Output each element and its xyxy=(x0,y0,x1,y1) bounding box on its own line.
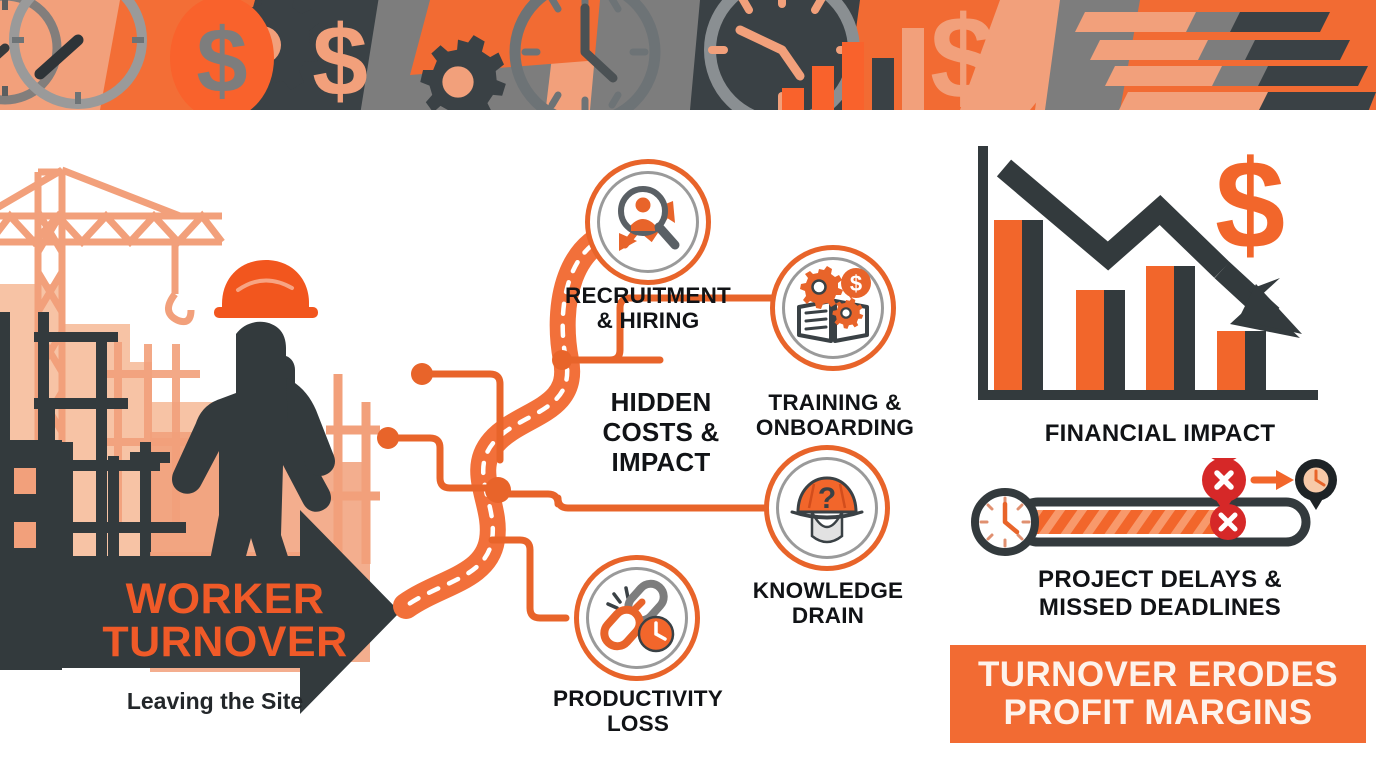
svg-text:?: ? xyxy=(818,482,836,515)
hub-label-line2: COSTS & xyxy=(563,417,759,447)
broken-chain-clock-icon xyxy=(594,578,680,658)
financial-impact-caption: FINANCIAL IMPACT xyxy=(960,420,1360,448)
banner-line1: TURNOVER ERODES xyxy=(978,656,1338,695)
svg-text:$: $ xyxy=(312,5,368,110)
svg-text:$: $ xyxy=(850,271,862,296)
delay-progress-graphic xyxy=(960,458,1360,568)
dollar-sign-icon: $ xyxy=(170,0,274,110)
orange-bar-2 xyxy=(1076,290,1104,390)
productivity-loss-label-line2: LOSS xyxy=(528,711,748,736)
infographic-canvas: $ $ xyxy=(0,0,1376,768)
progress-fill xyxy=(1026,510,1230,534)
header-pattern-band: $ $ xyxy=(0,0,1376,110)
financial-impact-chart: $ xyxy=(960,138,1360,428)
node-productivity-loss-label: PRODUCTIVITY LOSS xyxy=(528,686,748,736)
turnover-title-line1: WORKER xyxy=(60,578,390,621)
connector-terminal-dot xyxy=(411,363,433,385)
node-recruitment-label: RECRUITMENT & HIRING xyxy=(540,283,756,333)
connector-junction-dot xyxy=(552,350,572,370)
turnover-erodes-banner: TURNOVER ERODES PROFIT MARGINS xyxy=(950,645,1366,743)
worker-turnover-title: WORKER TURNOVER xyxy=(60,578,390,664)
book-gears-dollar-icon: $ xyxy=(789,265,877,351)
orange-bar-1 xyxy=(994,220,1022,390)
hub-label-hidden-costs: HIDDEN COSTS & IMPACT xyxy=(563,387,759,477)
hardhat-question-icon: ? xyxy=(784,468,870,548)
banner-line2: PROFIT MARGINS xyxy=(1004,694,1313,733)
orange-bar-4 xyxy=(1217,331,1245,390)
dollar-sign-icon: $ xyxy=(1215,138,1285,275)
delay-caption-line2: MISSED DEADLINES xyxy=(960,594,1360,622)
magnifier-person-growth-icon xyxy=(605,179,691,265)
clock-pin-icon xyxy=(1295,459,1337,510)
node-training-circle[interactable]: $ xyxy=(770,245,896,371)
dollar-sign-icon: $ xyxy=(930,0,996,110)
chart-x-axis xyxy=(978,390,1318,400)
node-inner-ring: $ xyxy=(782,257,884,359)
chart-y-axis xyxy=(978,146,988,398)
productivity-loss-label-line1: PRODUCTIVITY xyxy=(528,686,748,711)
recruitment-label-line1: RECRUITMENT xyxy=(540,283,756,308)
delay-caption-line1: PROJECT DELAYS & xyxy=(960,566,1360,594)
node-recruitment-circle[interactable] xyxy=(585,159,711,285)
red-x-marker-icon xyxy=(1210,504,1246,540)
dollar-bubble-icon: $ xyxy=(841,268,871,299)
clock-icon xyxy=(975,492,1035,552)
node-productivity-loss-circle[interactable] xyxy=(574,555,700,681)
project-delays-caption: PROJECT DELAYS & MISSED DEADLINES xyxy=(960,566,1360,622)
project-delays-graphic xyxy=(960,458,1360,568)
arrow-right-icon xyxy=(1254,470,1294,490)
connector-terminal-dot xyxy=(377,427,399,449)
knowledge-drain-label-line2: DRAIN xyxy=(720,603,936,628)
leaving-the-site-subtitle: Leaving the Site xyxy=(40,688,390,715)
header-pattern-graphic: $ $ xyxy=(0,0,1376,110)
node-inner-ring xyxy=(586,567,688,669)
node-knowledge-drain-label: KNOWLEDGE DRAIN xyxy=(720,578,936,628)
knowledge-drain-label-line1: KNOWLEDGE xyxy=(720,578,936,603)
dollar-sign-icon: $ xyxy=(312,5,368,110)
declining-bar-chart-graphic: $ xyxy=(960,138,1360,428)
connector-junction-dot xyxy=(485,477,511,503)
hub-label-line3: IMPACT xyxy=(563,447,759,477)
orange-bar-3 xyxy=(1146,266,1174,390)
svg-text:$: $ xyxy=(930,0,996,110)
node-inner-ring: ? xyxy=(776,457,878,559)
svg-text:$: $ xyxy=(196,10,247,110)
turnover-title-line2: TURNOVER xyxy=(60,621,390,664)
hub-label-line1: HIDDEN xyxy=(563,387,759,417)
node-inner-ring xyxy=(597,171,699,273)
node-knowledge-drain-circle[interactable]: ? xyxy=(764,445,890,571)
recruitment-label-line2: & HIRING xyxy=(540,308,756,333)
